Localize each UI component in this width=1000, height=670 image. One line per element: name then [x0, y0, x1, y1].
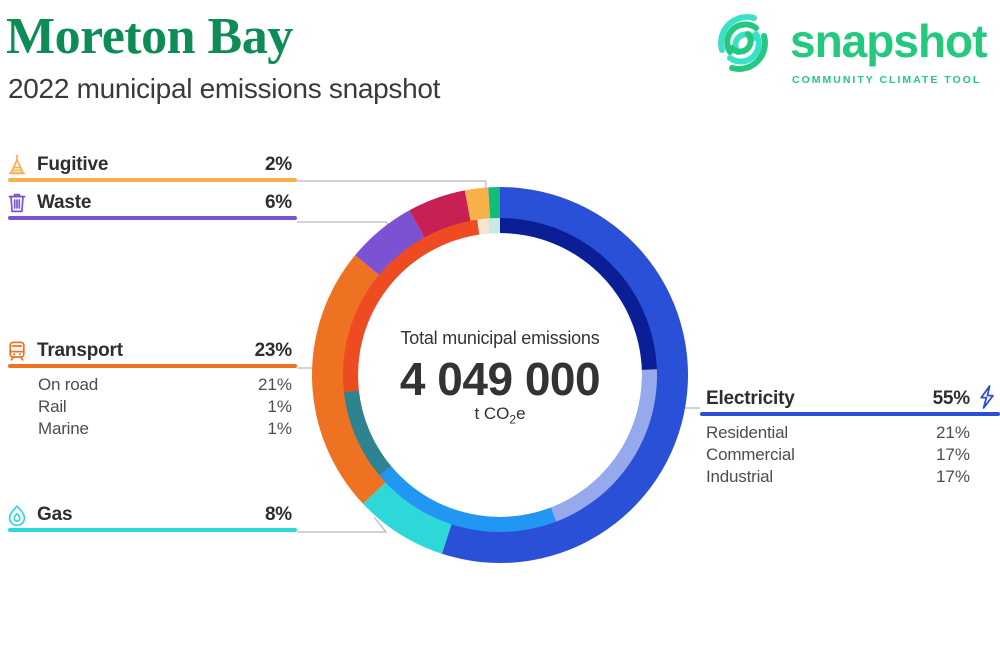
- gas-flare-icon: [6, 154, 28, 176]
- sub-percent: 17%: [936, 466, 970, 488]
- sub-label: Industrial: [706, 466, 773, 488]
- donut-center-unit: t CO2e: [338, 403, 662, 430]
- infographic-page: Moreton Bay 2022 municipal emissions sna…: [0, 0, 1000, 670]
- legend-rule-waste: [8, 216, 297, 220]
- legend-subitem-commercial: Commercial 17%: [700, 444, 1000, 466]
- page-subtitle: 2022 municipal emissions snapshot: [8, 72, 440, 106]
- sub-percent: 17%: [936, 444, 970, 466]
- sub-percent: 21%: [258, 374, 292, 396]
- legend-item-electricity[interactable]: Electricity 55%: [700, 386, 1000, 414]
- legend-label: Waste: [37, 191, 91, 215]
- flame-icon: [6, 504, 28, 526]
- sub-label: Commercial: [706, 444, 795, 466]
- trash-bin-icon: [6, 192, 28, 214]
- legend-rule-electricity: [700, 412, 1000, 416]
- sub-label: Residential: [706, 422, 788, 444]
- donut-center-value: 4 049 000: [338, 350, 662, 408]
- donut-segment: [489, 218, 500, 233]
- legend-item-gas[interactable]: Gas 8%: [0, 502, 292, 530]
- lightning-bolt-icon: [974, 384, 1000, 410]
- legend-percent: 2%: [265, 153, 292, 177]
- sub-percent: 1%: [267, 418, 292, 440]
- sub-percent: 21%: [936, 422, 970, 444]
- legend-subitem-rail: Rail 1%: [0, 396, 292, 418]
- legend-item-fugitive[interactable]: Fugitive 2%: [0, 152, 292, 180]
- donut-center-label: Total municipal emissions: [338, 327, 662, 349]
- legend-item-transport[interactable]: Transport 23%: [0, 338, 292, 366]
- sub-percent: 1%: [267, 396, 292, 418]
- legend-subitem-marine: Marine 1%: [0, 418, 292, 440]
- legend-subitem-industrial: Industrial 17%: [700, 466, 1000, 488]
- legend-subitem-on-road: On road 21%: [0, 374, 292, 396]
- logo-wordmark: snapshot: [790, 16, 986, 66]
- legend-percent: 23%: [255, 339, 292, 363]
- train-icon: [6, 340, 28, 362]
- unit-prefix: t CO: [474, 404, 509, 423]
- sub-label: On road: [38, 374, 98, 396]
- snapshot-logo: snapshot COMMUNITY CLIMATE TOOL: [708, 6, 1000, 86]
- legend-rule-transport: [8, 364, 297, 368]
- sub-label: Marine: [38, 418, 89, 440]
- legend-percent: 6%: [265, 191, 292, 215]
- donut-segment: [477, 218, 489, 234]
- legend-percent: 55%: [933, 387, 970, 411]
- legend-item-waste[interactable]: Waste 6%: [0, 190, 292, 218]
- legend-subitem-residential: Residential 21%: [700, 422, 1000, 444]
- legend-label: Gas: [37, 503, 72, 527]
- legend-label: Fugitive: [37, 153, 108, 177]
- page-title: Moreton Bay: [6, 6, 293, 68]
- unit-suffix: e: [516, 404, 525, 423]
- legend-rule-fugitive: [8, 178, 297, 182]
- legend-rule-gas: [8, 528, 297, 532]
- spiral-swirl-icon: [708, 8, 778, 78]
- legend-percent: 8%: [265, 503, 292, 527]
- sub-label: Rail: [38, 396, 67, 418]
- logo-tagline: COMMUNITY CLIMATE TOOL: [792, 74, 981, 86]
- legend-label: Transport: [37, 339, 123, 363]
- legend-label: Electricity: [706, 387, 795, 411]
